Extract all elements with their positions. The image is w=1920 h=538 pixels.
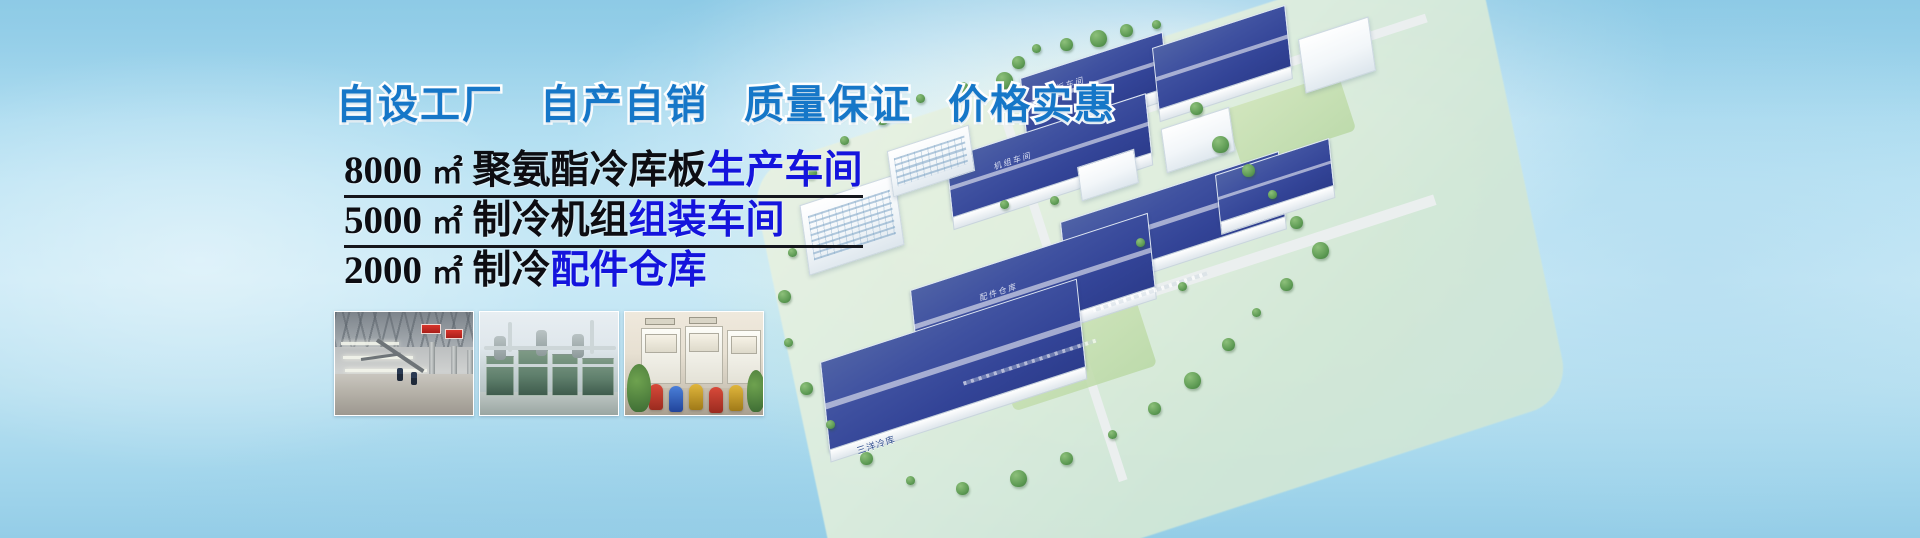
tree-icon	[1120, 24, 1133, 37]
refrigerant-pipe	[508, 322, 512, 352]
factory-floor	[335, 374, 473, 415]
tree-icon	[826, 420, 835, 429]
spec-area-unit: ㎡	[432, 155, 463, 190]
tree-icon	[1148, 402, 1161, 415]
tree-icon	[1252, 308, 1261, 317]
spec-text-black: 制冷机组	[473, 199, 629, 242]
tree-icon	[784, 338, 793, 347]
spec-text-black: 聚氨酯冷库板	[473, 149, 707, 192]
potted-plant	[747, 370, 764, 412]
parts-warehouse-photo	[624, 311, 764, 416]
cabinet-sign	[689, 317, 717, 324]
tree-icon	[1000, 200, 1009, 209]
promo-banner: 冷库板车间 机组车间 配件仓库	[0, 0, 1920, 538]
spec-area-value: 5000	[344, 199, 422, 242]
tree-icon	[1136, 238, 1145, 247]
spec-area-value: 2000	[344, 249, 422, 292]
tree-icon	[1268, 190, 1277, 199]
compressor-unit	[552, 354, 578, 396]
ceiling-light	[341, 342, 399, 345]
refrigerant-cylinder	[709, 387, 723, 413]
tree-icon	[1178, 282, 1187, 291]
tree-icon	[1060, 452, 1073, 465]
headline-phrase-2: 自产自销	[540, 72, 708, 130]
tree-icon	[1012, 56, 1025, 69]
tree-icon	[1010, 470, 1027, 487]
headline-phrase-4: 价格实惠	[948, 72, 1116, 130]
wall-banner	[421, 324, 441, 334]
tree-icon	[1312, 242, 1329, 259]
spec-area-unit: ㎡	[432, 205, 463, 240]
refrigerant-cylinder	[729, 385, 743, 411]
spec-area-unit: ㎡	[432, 255, 463, 290]
factory-interior-photo	[334, 311, 474, 416]
photo-thumbnail-row	[334, 311, 764, 416]
cabinet-sign	[645, 318, 675, 325]
worker-figure	[411, 372, 417, 385]
tree-icon	[1212, 136, 1229, 153]
tree-icon	[1108, 430, 1117, 439]
tree-icon	[840, 136, 849, 145]
headline-phrase-3: 质量保证	[744, 72, 912, 130]
banner-headline: 自设工厂 自产自销 质量保证 价格实惠	[336, 72, 1116, 130]
spec-text-highlight: 配件仓库	[551, 249, 707, 292]
spec-text-black: 制冷	[473, 249, 551, 292]
spec-line-3: 2000 ㎡ 制冷配件仓库	[344, 248, 863, 295]
spec-line-1: 8000 ㎡ 聚氨酯冷库板生产车间	[344, 148, 863, 198]
potted-plant	[627, 364, 651, 412]
receiver-tank	[536, 330, 547, 356]
wall-banner	[445, 329, 463, 339]
spec-line-2: 5000 ㎡ 制冷机组组装车间	[344, 198, 863, 248]
refrigerant-cylinder	[689, 384, 703, 410]
tree-icon	[1222, 338, 1235, 351]
tree-icon	[1280, 278, 1293, 291]
refrigerant-pipe	[484, 346, 616, 350]
headline-phrase-1: 自设工厂	[336, 72, 504, 130]
spec-text-highlight: 生产车间	[707, 149, 863, 192]
tree-icon	[1190, 102, 1203, 115]
compressor-unit	[518, 350, 548, 396]
refrigerant-pipe	[590, 320, 594, 354]
worker-figure	[397, 368, 403, 381]
tree-icon	[956, 482, 969, 495]
tree-icon	[1050, 196, 1059, 205]
refrigerant-cylinder	[669, 386, 683, 412]
tree-icon	[800, 382, 813, 395]
compressor-unit	[486, 356, 514, 396]
refrigeration-units-photo	[479, 311, 619, 416]
tree-icon	[1184, 372, 1201, 389]
tree-icon	[1290, 216, 1303, 229]
refrigerant-cylinder	[649, 384, 663, 410]
tree-icon	[1242, 164, 1255, 177]
tree-icon	[906, 476, 915, 485]
tree-icon	[1060, 38, 1073, 51]
spec-list: 8000 ㎡ 聚氨酯冷库板生产车间 5000 ㎡ 制冷机组组装车间 2000 ㎡…	[344, 148, 863, 295]
tree-icon	[1032, 44, 1041, 53]
tree-icon	[860, 452, 873, 465]
spec-area-value: 8000	[344, 149, 422, 192]
control-cabinet	[685, 326, 723, 384]
refrigerant-pipe	[484, 364, 616, 367]
tree-icon	[1090, 30, 1107, 47]
spec-text-highlight: 组装车间	[629, 199, 785, 242]
tree-icon	[1152, 20, 1161, 29]
